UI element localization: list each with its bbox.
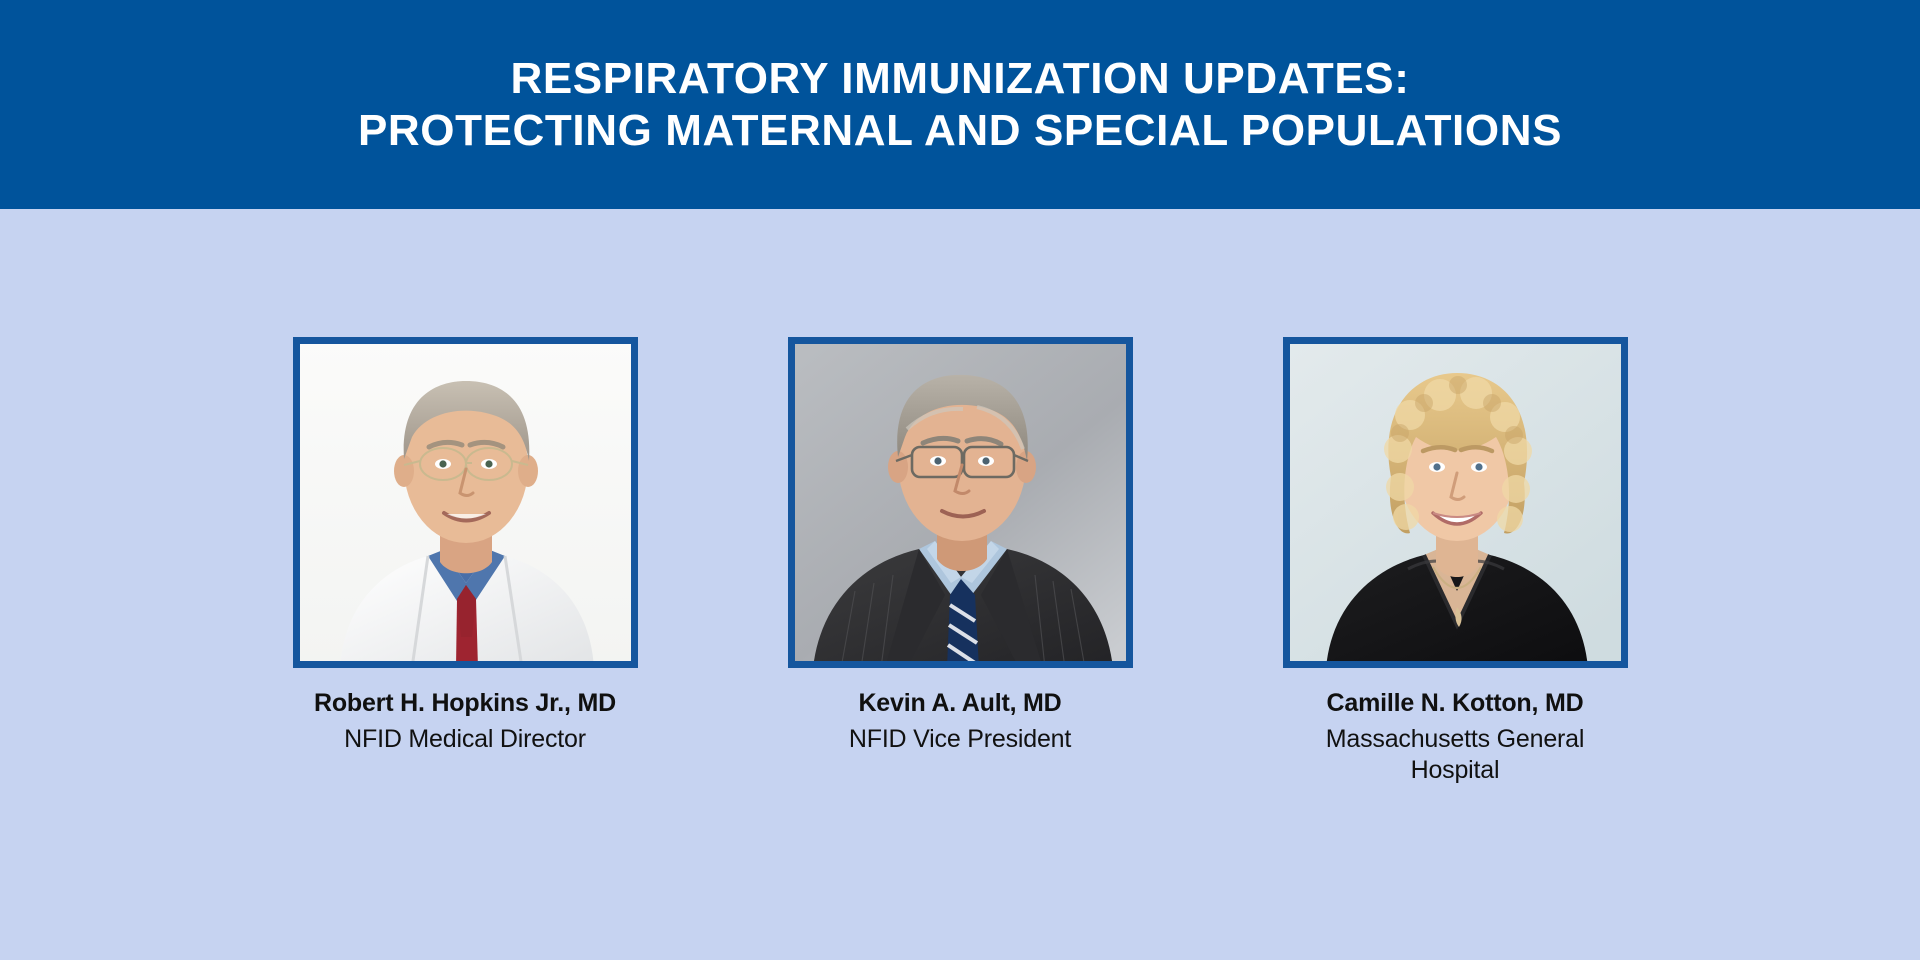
speaker-affiliation-2: NFID Vice President: [800, 724, 1120, 755]
speaker-affiliation-3: Massachusetts General Hospital: [1295, 724, 1615, 787]
speaker-photo-frame-1: [293, 337, 638, 668]
speaker-portrait-image-3: [1290, 344, 1621, 661]
speaker-name-1: Robert H. Hopkins Jr., MD: [305, 688, 625, 718]
speaker-caption-2: Kevin A. Ault, MD NFID Vice President: [800, 688, 1120, 755]
speaker-portrait-image-2: [795, 344, 1126, 661]
speaker-affiliation-1: NFID Medical Director: [305, 724, 625, 755]
speaker-photo-frame-3: [1283, 337, 1628, 668]
speaker-caption-3: Camille N. Kotton, MD Massachusetts Gene…: [1295, 688, 1615, 787]
speaker-name-3: Camille N. Kotton, MD: [1295, 688, 1615, 718]
slide-header-banner: RESPIRATORY IMMUNIZATION UPDATES: PROTEC…: [0, 0, 1920, 209]
presentation-slide: RESPIRATORY IMMUNIZATION UPDATES: PROTEC…: [0, 0, 1920, 960]
speaker-name-2: Kevin A. Ault, MD: [800, 688, 1120, 718]
speaker-portrait-image-1: [300, 344, 631, 661]
speaker-photo-frame-2: [788, 337, 1133, 668]
speaker-card-1: Robert H. Hopkins Jr., MD NFID Medical D…: [293, 337, 638, 755]
slide-title-line-1: RESPIRATORY IMMUNIZATION UPDATES:: [510, 53, 1409, 105]
slide-title-line-2: PROTECTING MATERNAL AND SPECIAL POPULATI…: [358, 105, 1562, 157]
speaker-caption-1: Robert H. Hopkins Jr., MD NFID Medical D…: [305, 688, 625, 755]
speakers-row: Robert H. Hopkins Jr., MD NFID Medical D…: [0, 337, 1920, 787]
speaker-card-2: Kevin A. Ault, MD NFID Vice President: [788, 337, 1133, 755]
speaker-card-3: Camille N. Kotton, MD Massachusetts Gene…: [1283, 337, 1628, 787]
